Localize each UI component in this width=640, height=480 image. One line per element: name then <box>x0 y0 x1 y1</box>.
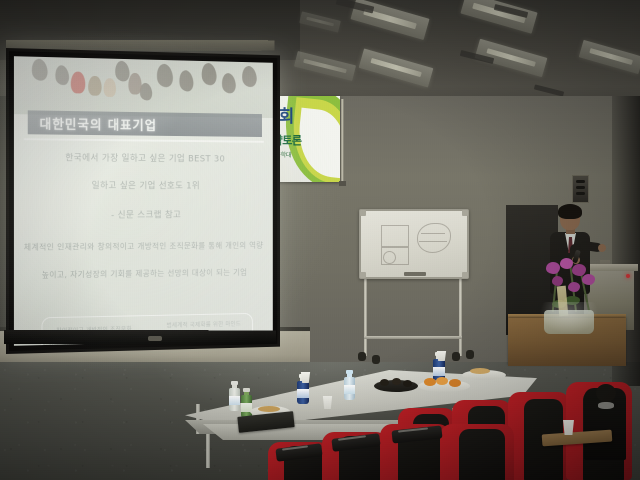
slide-photo-leaf-4 <box>155 63 174 88</box>
whiteboard-caster-right <box>452 352 460 361</box>
whiteboard-corner-tr <box>462 210 468 216</box>
banner-hanging-rod <box>341 99 344 185</box>
slide-title-bar: 대한민국의 대표기업 <box>28 110 262 137</box>
whiteboard-corner-bl <box>360 272 366 278</box>
dark-snack-2 <box>392 378 401 385</box>
whiteboard-sketch-circle <box>383 251 396 264</box>
orange-slice-3 <box>449 379 461 387</box>
wall-speaker-icon <box>572 175 589 203</box>
orchid-bloom-5 <box>552 276 563 286</box>
slide-line-2: 일하고 싶은 기업 선호도 1위 <box>24 178 264 191</box>
slide-header-photo <box>14 56 273 118</box>
slide-photo-figure-3 <box>104 78 116 97</box>
presentation-slide: 대한민국의 대표기업 한국에서 가장 일하고 싶은 기업 BEST 30 일하고… <box>14 56 273 346</box>
orchid-bloom-6 <box>568 282 580 292</box>
whiteboard <box>359 209 469 279</box>
whiteboard-leg-right <box>459 272 462 356</box>
seated-attendee-collar <box>598 402 614 409</box>
banner-rod-cap <box>339 181 346 186</box>
slide-photo-leaf-2 <box>54 65 70 86</box>
table-leg-front-left <box>206 428 210 468</box>
slide-line-5: 높이고, 자기성장의 기회를 제공하는 선망의 대상이 되는 기업 <box>24 267 264 281</box>
seat-row-near-4[interactable] <box>440 424 514 480</box>
whiteboard-sketch-box <box>381 225 409 247</box>
orange-slice-1 <box>424 378 436 386</box>
orchid-bloom-2 <box>560 258 573 269</box>
dark-snack-1 <box>380 379 389 386</box>
whiteboard-sketch-cloud <box>417 223 451 253</box>
slide-line-4: 체계적인 인재관리와 창의적이고 개방적인 조직문화를 통해 개인의 역량을 <box>24 240 264 253</box>
dark-snack-3 <box>403 380 412 387</box>
indicator-led <box>626 274 630 278</box>
water-bottle-3 <box>344 370 355 400</box>
whiteboard-corner-tl <box>360 210 366 216</box>
screen-bottom-weight-bar <box>4 330 276 344</box>
whiteboard-crossbar <box>364 336 462 339</box>
slide-photo-leaf-1 <box>30 58 49 82</box>
whiteboard-corner-br <box>462 272 468 278</box>
slide-photo-leaf-7 <box>221 72 237 94</box>
orange-slice-2 <box>436 377 448 385</box>
screen-pull-knob[interactable] <box>148 336 162 341</box>
lecture-hall-scene: 수회 전략토론 한경공학대 <box>0 0 640 480</box>
slide-line-1: 한국에서 가장 일하고 싶은 기업 BEST 30 <box>24 150 264 165</box>
slide-divider <box>24 138 264 143</box>
orchid-plant <box>538 258 600 334</box>
slide-photo-leaf-5 <box>178 69 195 92</box>
slide-photo-figure-4 <box>128 73 141 95</box>
slide-body: 한국에서 가장 일하고 싶은 기업 BEST 30 일하고 싶은 기업 선호도 … <box>24 144 264 335</box>
slide-photo-leaf-8 <box>241 65 258 88</box>
snack-far-1 <box>470 368 490 374</box>
slide-photo-leaf-6 <box>200 62 218 86</box>
whiteboard-sketch-lines2 <box>419 241 447 242</box>
whiteboard-caster-right2 <box>466 350 474 359</box>
orchid-bloom-4 <box>582 274 595 285</box>
whiteboard-sketch-lines <box>421 233 445 234</box>
whiteboard-leg-left <box>364 272 367 356</box>
whiteboard-caster-left <box>358 352 366 361</box>
slide-title: 대한민국의 대표기업 <box>40 114 157 134</box>
orchid-bloom-1 <box>546 262 560 274</box>
whiteboard-marker-tray <box>404 272 426 276</box>
presenter-hair <box>558 204 582 219</box>
green-bottle <box>241 388 252 418</box>
slide-line-3: - 신문 스크랩 참고 <box>24 208 264 221</box>
seated-attendee-head <box>596 384 616 402</box>
water-bottle-1 <box>229 381 240 411</box>
slide-photo-figure-1 <box>71 71 86 93</box>
orchid-cellophane-sheen <box>540 302 598 334</box>
slide-photo-figure-2 <box>88 76 101 96</box>
cracker-food <box>258 406 280 412</box>
presenter-hand-right <box>598 244 606 252</box>
projection-screen: 대한민국의 대표기업 한국에서 가장 일하고 싶은 기업 BEST 30 일하고… <box>6 48 280 354</box>
whiteboard-caster-left2 <box>372 355 380 364</box>
